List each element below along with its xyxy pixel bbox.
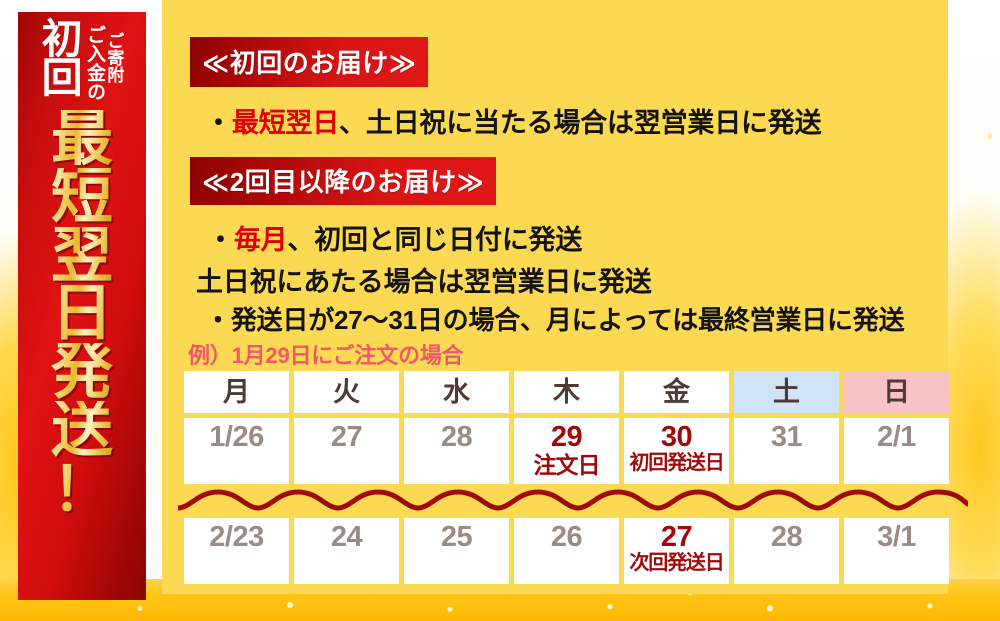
weekday-label: 土	[773, 379, 800, 406]
day-number: 28	[441, 422, 472, 453]
day-number: 2/1	[877, 422, 916, 453]
shipping-calendar: 月 火 水 木 金 土 日 1/26 27 28 29 注文日	[184, 371, 964, 584]
weekday-label: 日	[883, 379, 910, 406]
day-number: 2/23	[209, 522, 263, 553]
calendar-day-cell-order-date: 29 注文日	[514, 418, 619, 484]
calendar-day-cell: 2/23	[184, 518, 289, 584]
calendar-day-cell: 31	[734, 418, 839, 484]
calendar-day-cell: 27	[294, 418, 399, 484]
bullet-mark: ・	[207, 225, 234, 255]
bullet-mark: ・	[205, 305, 231, 335]
left-red-banner: 初 回 ご入金の ご寄附 最 短 翌 日 発 送 ！	[18, 12, 146, 600]
vertical-text-kifu: ご寄附	[105, 32, 122, 83]
gold-char-2: 翌	[51, 227, 113, 285]
day-number: 3/1	[877, 522, 916, 553]
weekday-label: 木	[553, 379, 580, 406]
calendar-header-cell-tue: 火	[294, 371, 399, 413]
gold-char-1: 短	[51, 168, 113, 226]
calendar-header-cell-mon: 月	[184, 371, 289, 413]
calendar-week-row-february: 2/23 24 25 26 27 次回発送日 28	[184, 518, 964, 584]
calendar-header-cell-sat: 土	[734, 371, 839, 413]
day-note-next-shipment: 次回発送日	[630, 553, 724, 574]
calendar-week-row-january: 1/26 27 28 29 注文日 30 初回発送日 31	[184, 418, 964, 484]
gold-char-3: 日	[51, 285, 113, 343]
day-number: 1/26	[209, 422, 263, 453]
example-note: 例）1月29日にご注文の場合	[188, 338, 463, 370]
calendar-day-cell: 28	[734, 518, 839, 584]
calendar-day-cell: 24	[294, 518, 399, 584]
highlight-monthly: 毎月	[234, 225, 288, 255]
weekday-label: 金	[663, 379, 690, 406]
calendar-header-cell-wed: 水	[404, 371, 509, 413]
bullet-mark: ・	[205, 108, 232, 138]
calendar-day-cell: 26	[514, 518, 619, 584]
first-delivery-line: ・最短翌日、土日祝に当たる場合は翌営業日に発送	[205, 101, 821, 140]
day-number: 31	[771, 422, 802, 453]
day-number: 28	[771, 522, 802, 553]
day-number: 27	[331, 422, 362, 453]
gold-char-5: 送	[51, 401, 113, 459]
calendar-day-cell-first-shipment: 30 初回発送日	[624, 418, 729, 484]
gold-char-0: 最	[51, 110, 113, 168]
day-number: 30	[661, 422, 692, 453]
second-onward-line-2: 土日祝にあたる場合は翌営業日に発送	[196, 260, 652, 299]
wavy-divider-icon	[178, 486, 968, 516]
first-delivery-rest: 、土日祝に当たる場合は翌営業日に発送	[339, 108, 821, 138]
second-onward-rest-1: 、初回と同じ日付に発送	[287, 225, 582, 255]
calendar-day-cell: 3/1	[844, 518, 949, 584]
gold-char-4: 発	[51, 343, 113, 401]
section-badge-second-onward: ≪2回目以降のお届け≫	[190, 157, 496, 205]
calendar-day-cell: 25	[404, 518, 509, 584]
weekday-label: 水	[443, 379, 470, 406]
gold-char-6: ！	[52, 460, 112, 520]
section-badge-first-delivery: ≪初回のお届け≫	[190, 37, 428, 87]
promo-banner-image: 初 回 ご入金の ご寄附 最 短 翌 日 発 送 ！ ≪初回のお届け≫ ・最短翌…	[0, 0, 1000, 621]
calendar-header-row: 月 火 水 木 金 土 日	[184, 371, 964, 413]
vertical-text-nyukin: ご入金の	[85, 25, 104, 101]
weekday-label: 火	[333, 379, 360, 406]
calendar-day-cell: 28	[404, 418, 509, 484]
calendar-header-cell-thu: 木	[514, 371, 619, 413]
weekday-label: 月	[223, 379, 250, 406]
day-number: 24	[331, 522, 362, 553]
second-onward-line-1: ・毎月、初回と同じ日付に発送	[207, 218, 582, 257]
day-note-first-shipment: 初回発送日	[630, 453, 724, 474]
banner-gold-headline: 最 短 翌 日 発 送 ！	[51, 110, 113, 520]
highlight-shortest-next-day: 最短翌日	[232, 108, 339, 138]
shokai-label: 初 回	[42, 20, 83, 99]
calendar-header-cell-sun: 日	[844, 371, 949, 413]
day-number: 29	[551, 422, 582, 453]
shokai-char-2: 回	[42, 59, 83, 98]
second-onward-rest-3: 発送日が27〜31日の場合、月によっては最終営業日に発送	[231, 305, 905, 335]
banner-top-group: 初 回 ご入金の ご寄附	[18, 20, 146, 101]
day-number: 25	[441, 522, 472, 553]
second-onward-line-3: ・発送日が27〜31日の場合、月によっては最終営業日に発送	[205, 300, 904, 337]
calendar-day-cell: 2/1	[844, 418, 949, 484]
shokai-char-1: 初	[42, 20, 83, 59]
day-note-order-date: 注文日	[534, 453, 600, 477]
calendar-header-cell-fri: 金	[624, 371, 729, 413]
calendar-day-cell-next-shipment: 27 次回発送日	[624, 518, 729, 584]
calendar-day-cell: 1/26	[184, 418, 289, 484]
day-number: 26	[551, 522, 582, 553]
day-number: 27	[661, 522, 692, 553]
